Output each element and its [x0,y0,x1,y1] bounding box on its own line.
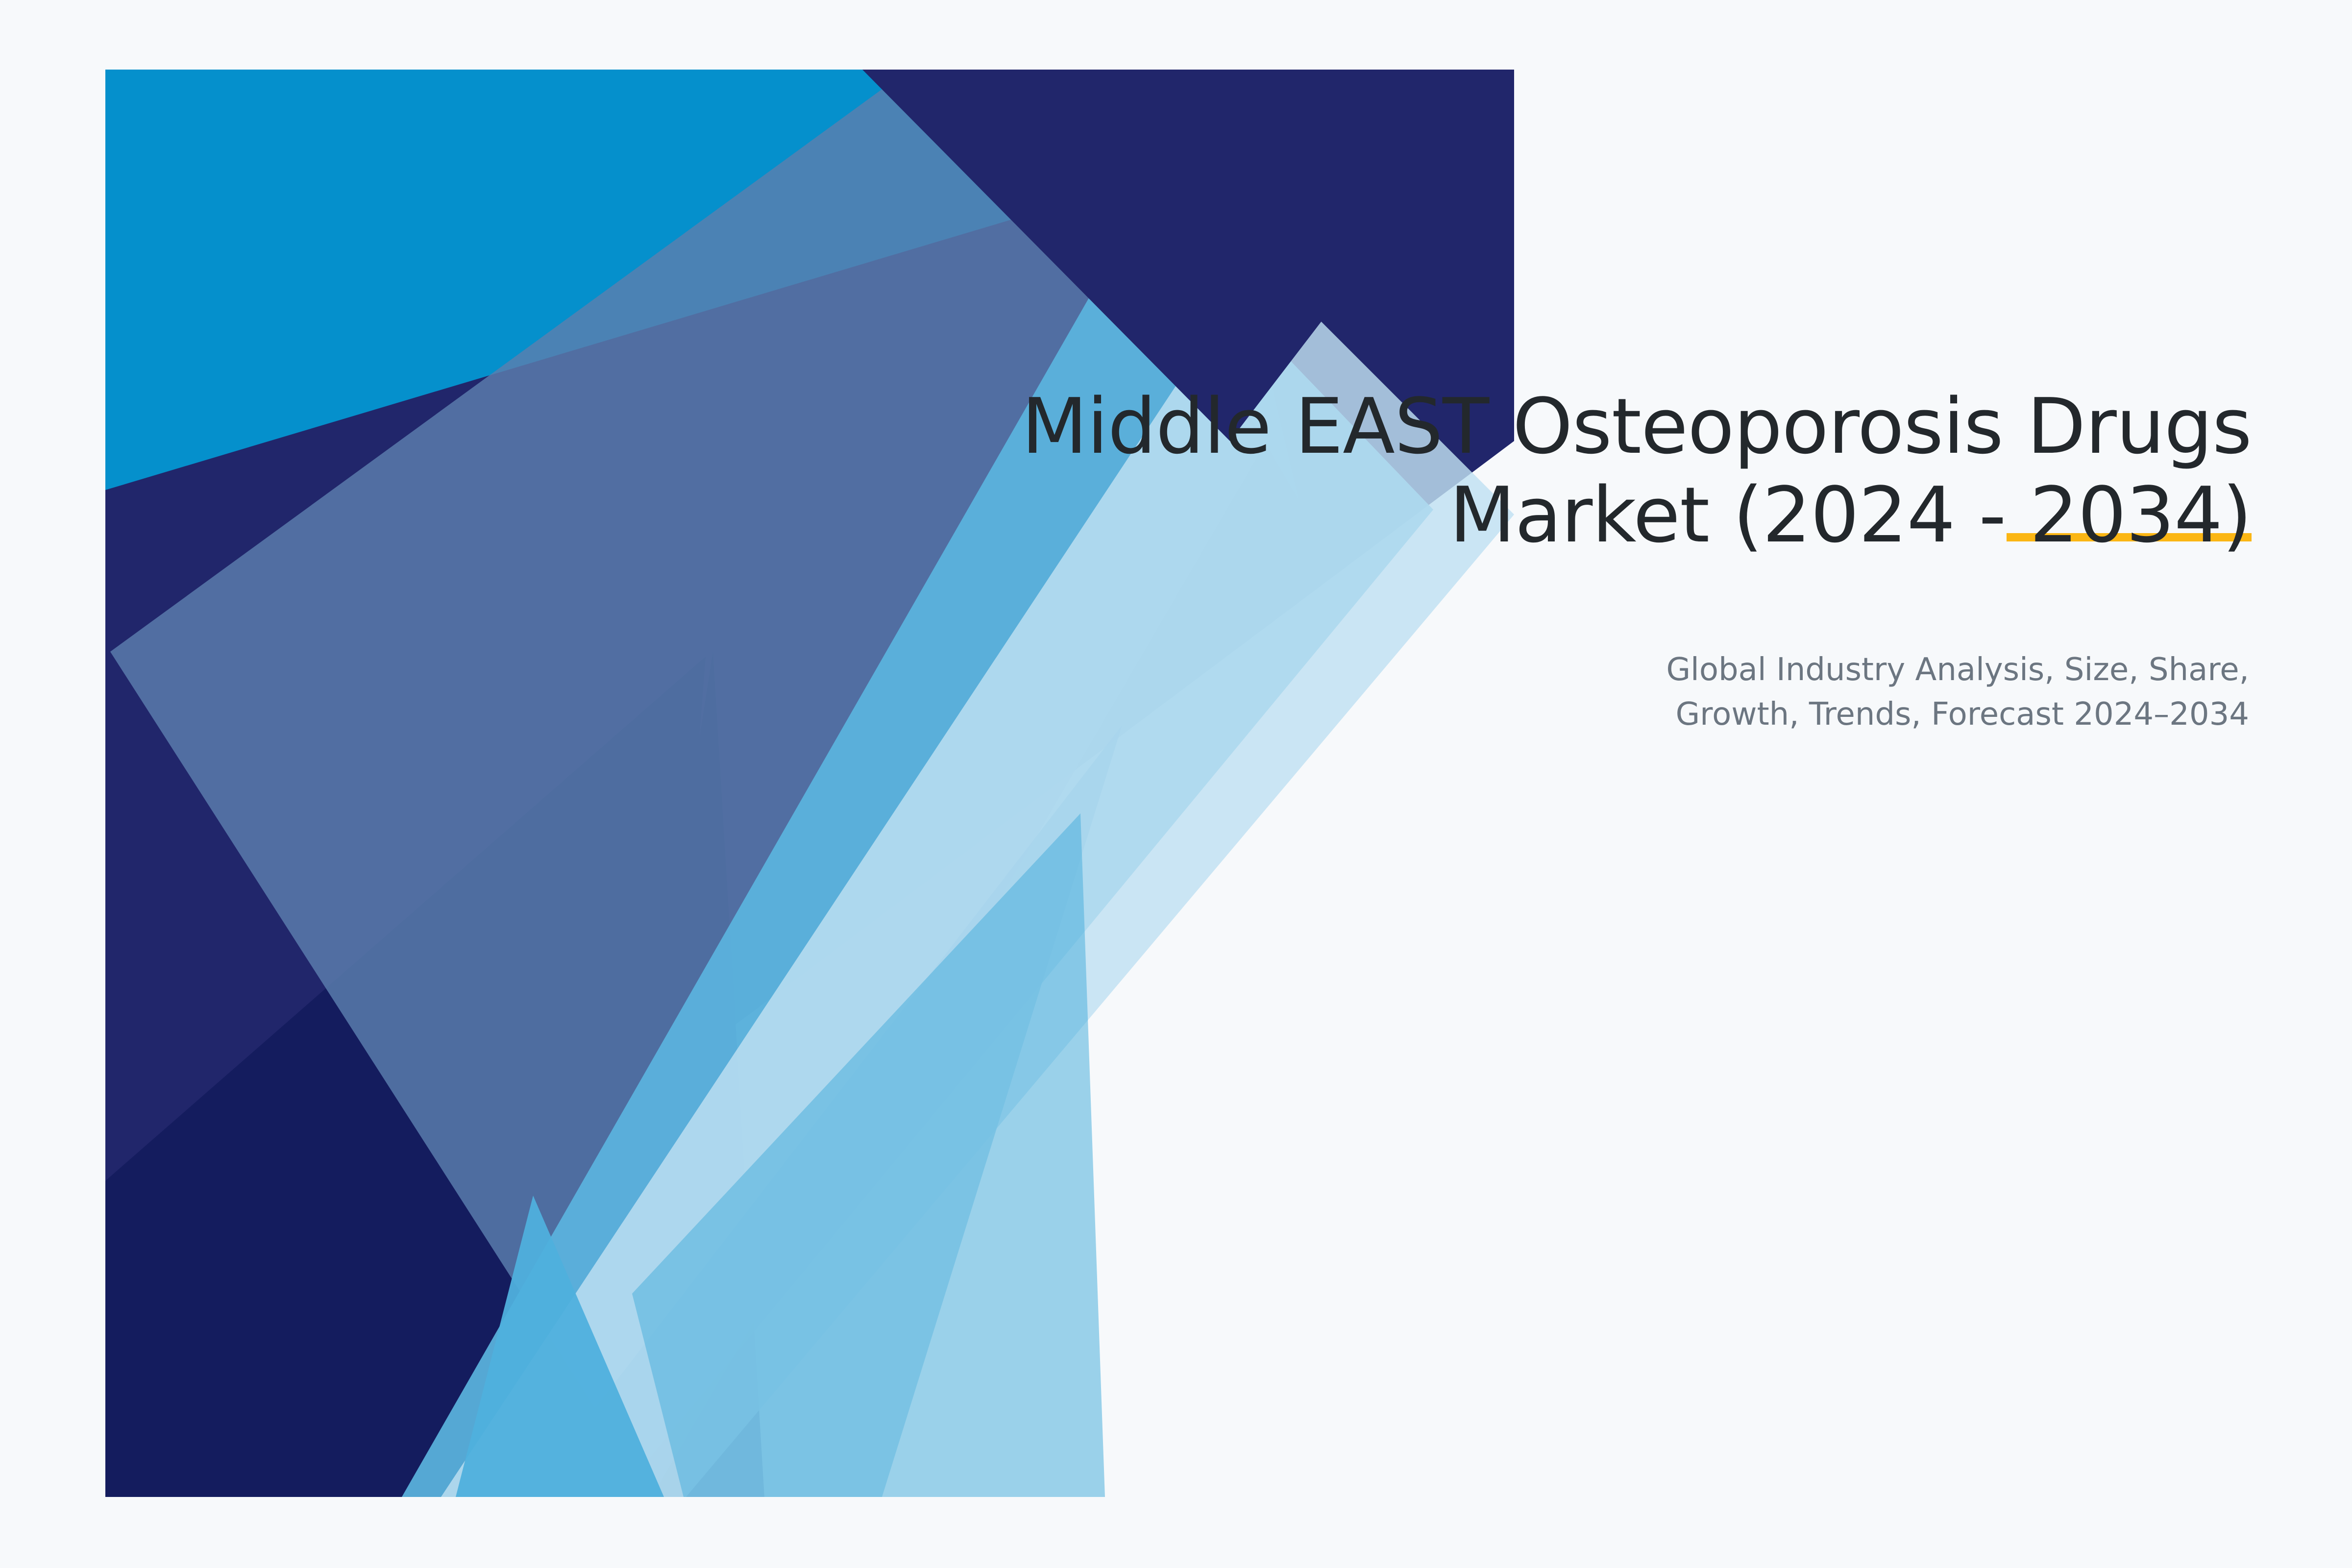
title-line-2: Market (2024 - 2034) [929,471,2252,560]
page-subtitle: Global Industry Analysis, Size, Share, G… [1269,648,2249,737]
cover-text-block: Middle EAST Osteoporosis Drugs Market (2… [929,382,2252,560]
report-cover-page: Middle EAST Osteoporosis Drugs Market (2… [0,0,2352,1568]
subtitle-line-2: Growth, Trends, Forecast 2024–2034 [1269,692,2249,737]
subtitle-line-1: Global Industry Analysis, Size, Share, [1269,648,2249,692]
page-title: Middle EAST Osteoporosis Drugs Market (2… [929,382,2252,560]
title-line-1: Middle EAST Osteoporosis Drugs [929,382,2252,471]
abstract-geometric-artwork [0,0,2352,1568]
